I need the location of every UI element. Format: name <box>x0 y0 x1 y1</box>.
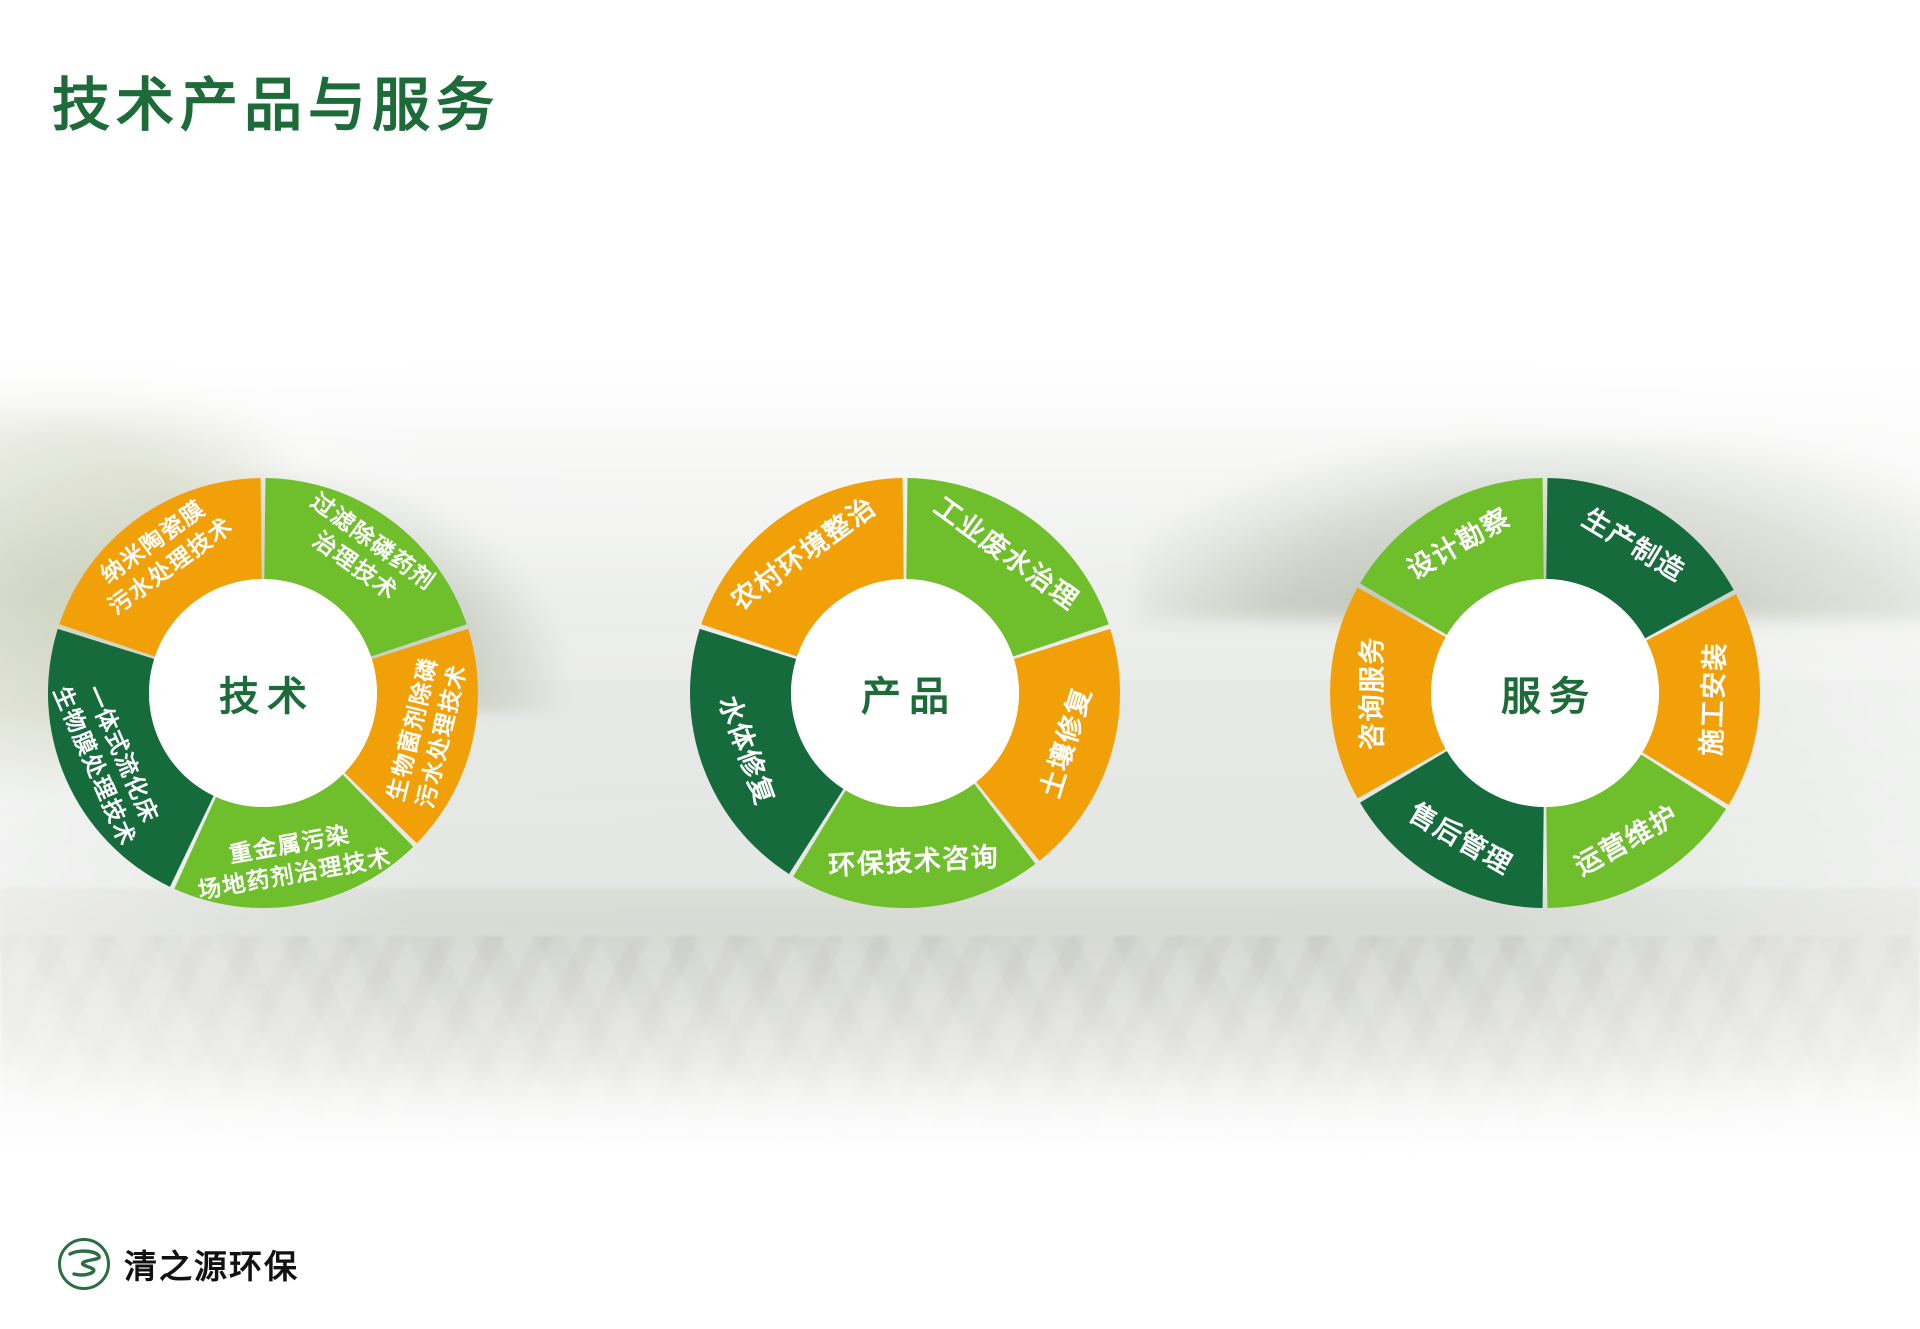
page-title: 技术产品与服务 <box>52 74 500 138</box>
swoosh-glyph-icon <box>66 1247 104 1281</box>
brand-name: 清之源环保 <box>124 1240 299 1288</box>
background-top-fade <box>0 280 1920 420</box>
svg-text:施工安装: 施工安装 <box>1697 641 1731 756</box>
footer-logo: 清之源环保 <box>58 1238 299 1290</box>
segment-construction-install-label: 施工安装 <box>1697 641 1731 756</box>
background-bottom-fade <box>0 1060 1920 1260</box>
hub-product: 产品 <box>791 579 1019 807</box>
donut-chart-technology: 过滤除磷药剂治理技术生物菌剂除磷污水处理技术重金属污染场地药剂治理技术一体式流化… <box>48 478 478 908</box>
svg-text:咨询服务: 咨询服务 <box>1358 636 1388 750</box>
hub-service: 服务 <box>1431 579 1659 807</box>
hub-label-product: 产品 <box>853 664 957 722</box>
donut-chart-product: 工业废水治理土壤修复环保技术咨询水体修复农村环境整治 产品 <box>690 478 1120 908</box>
circle-swoosh-logo-icon <box>58 1238 110 1290</box>
hub-label-technology: 技术 <box>211 664 315 722</box>
segment-consulting-service-label: 咨询服务 <box>1358 636 1388 750</box>
hub-label-service: 服务 <box>1493 664 1597 722</box>
donut-chart-service: 生产制造施工安装运营维护售后管理咨询服务设计勘察 服务 <box>1330 478 1760 908</box>
hub-technology: 技术 <box>149 579 377 807</box>
